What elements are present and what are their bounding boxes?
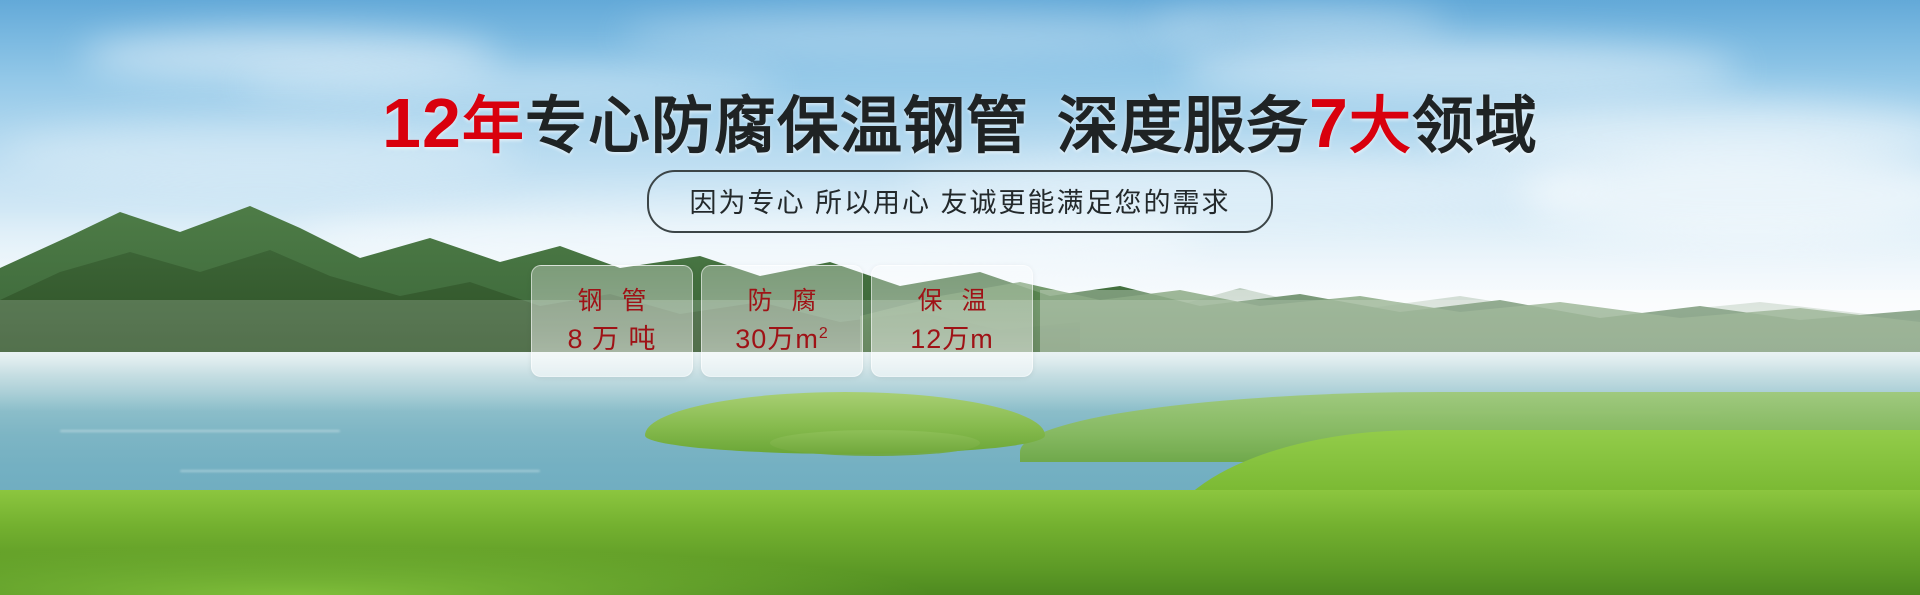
stat-card-value-text: 30万m	[735, 324, 819, 354]
headline-fields-number: 7	[1309, 84, 1349, 162]
stat-card-steel-pipe: 钢 管 8 万 吨	[531, 265, 693, 377]
banner-content: 12年专心防腐保温钢管深度服务7大领域 因为专心 所以用心 友诚更能满足您的需求…	[0, 0, 1920, 595]
banner-subtitle-pill: 因为专心 所以用心 友诚更能满足您的需求	[647, 170, 1272, 233]
stat-card-label: 保 温	[912, 289, 993, 314]
stat-card-insulation: 保 温 12万m	[871, 265, 1033, 377]
headline-years-number: 12	[382, 84, 462, 162]
headline-fields-text: 领域	[1412, 92, 1538, 161]
banner-headline: 12年专心防腐保温钢管深度服务7大领域	[0, 88, 1920, 158]
stat-card-superscript: 2	[819, 325, 829, 342]
stat-card-label: 钢 管	[572, 289, 653, 314]
headline-main-text: 专心防腐保温钢管	[525, 92, 1029, 161]
headline-years-unit: 年	[462, 92, 525, 161]
headline-service-text: 深度服务	[1057, 92, 1309, 161]
stat-card-value: 30万m2	[735, 326, 828, 353]
stat-cards-group: 钢 管 8 万 吨 防 腐 30万m2 保 温 12万m	[531, 265, 1033, 377]
stat-card-value: 8 万 吨	[567, 326, 656, 353]
stat-card-value: 12万m	[910, 326, 994, 353]
stat-card-anticorrosion: 防 腐 30万m2	[701, 265, 863, 377]
stat-card-label: 防 腐	[742, 289, 823, 314]
promo-banner: 12年专心防腐保温钢管深度服务7大领域 因为专心 所以用心 友诚更能满足您的需求…	[0, 0, 1920, 595]
headline-fields-unit: 大	[1349, 92, 1412, 161]
banner-subtitle-wrapper: 因为专心 所以用心 友诚更能满足您的需求	[0, 170, 1920, 233]
